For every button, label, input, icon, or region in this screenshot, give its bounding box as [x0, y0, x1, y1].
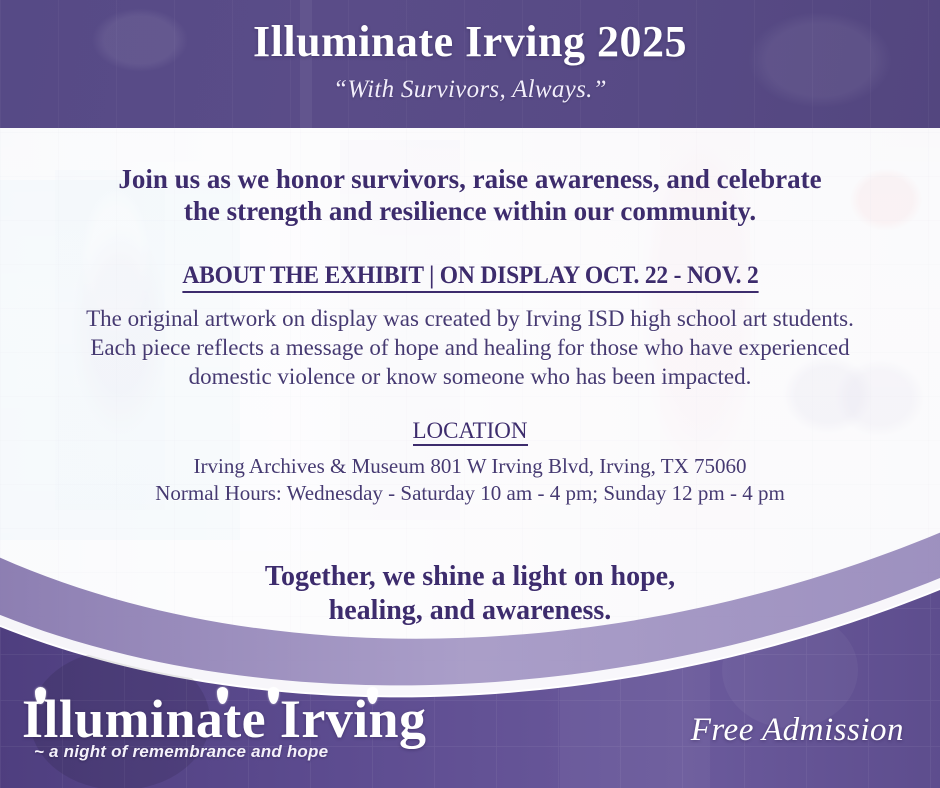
exhibit-heading: ABOUT THE EXHIBIT | ON DISPLAY OCT. 22 -…	[0, 262, 940, 293]
closing-statement: Together, we shine a light on hope, heal…	[0, 560, 940, 627]
closing-line-2: healing, and awareness.	[0, 594, 940, 628]
exhibit-para-line-3: domestic violence or know someone who ha…	[0, 363, 940, 392]
flyer-canvas: Illuminate Irving 2025 “With Survivors, …	[0, 0, 940, 788]
body-content: Join us as we honor survivors, raise awa…	[0, 128, 940, 528]
lede-line-2: the strength and resilience within our c…	[0, 196, 940, 228]
illuminate-irving-logo: Illuminate Irving ~ a night of remembran…	[22, 693, 442, 762]
exhibit-description: The original artwork on display was crea…	[0, 305, 940, 392]
page-title: Illuminate Irving 2025	[0, 0, 940, 64]
lede-line-1: Join us as we honor survivors, raise awa…	[0, 164, 940, 196]
location-heading: LOCATION	[0, 418, 940, 444]
exhibit-para-line-2: Each piece reflects a message of hope an…	[0, 334, 940, 363]
page-subtitle: “With Survivors, Always.”	[0, 64, 940, 104]
location-heading-text: LOCATION	[413, 418, 528, 446]
exhibit-para-line-1: The original artwork on display was crea…	[0, 305, 940, 334]
lede-paragraph: Join us as we honor survivors, raise awa…	[0, 128, 940, 228]
closing-line-1: Together, we shine a light on hope,	[0, 560, 940, 594]
exhibit-heading-text: ABOUT THE EXHIBIT | ON DISPLAY OCT. 22 -…	[182, 262, 758, 293]
logo-wordmark: Illuminate Irving	[22, 693, 442, 746]
header-band: Illuminate Irving 2025 “With Survivors, …	[0, 0, 940, 128]
free-admission-label: Free Admission	[691, 712, 904, 749]
